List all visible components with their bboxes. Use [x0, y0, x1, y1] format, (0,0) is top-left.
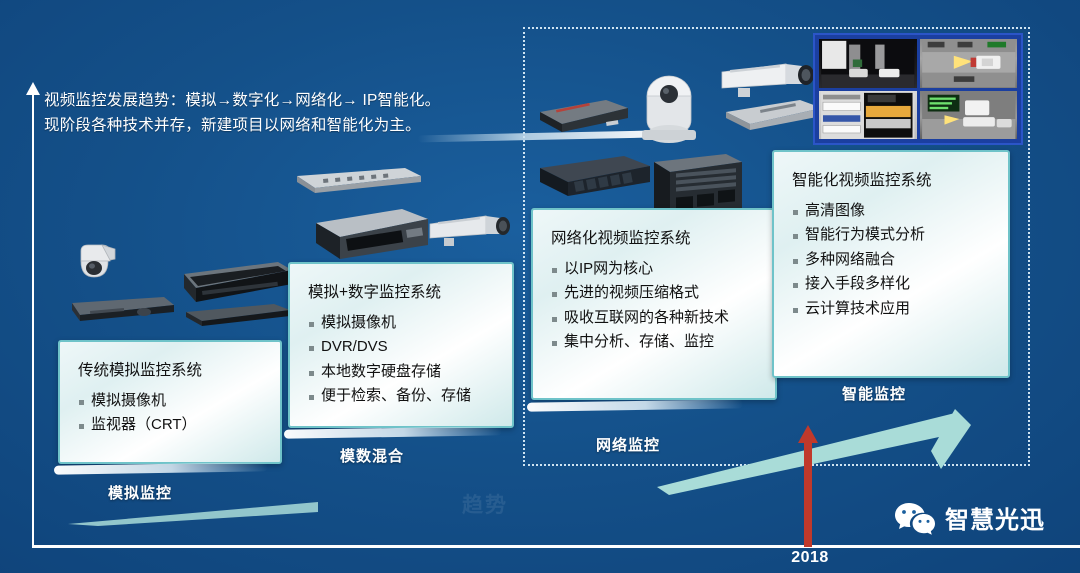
card-intelligent[interactable]: 智能化视频监控系统 高清图像 智能行为模式分析 多种网络融合 接入手段多样化 云…	[772, 150, 1010, 378]
brand-name: 智慧光迅	[945, 500, 1045, 535]
card-analog-swoosh	[54, 462, 268, 474]
card-analog[interactable]: 传统模拟监控系统 模拟摄像机 监视器（CRT）	[58, 340, 282, 464]
list-item: 集中分析、存储、监控	[551, 330, 761, 354]
video-wall	[813, 33, 1023, 145]
video-wall-cell	[819, 91, 917, 140]
bullet-camera-icon	[424, 208, 516, 250]
list-item: 便于检索、备份、存储	[308, 384, 498, 408]
slide-canvas: 视频监控发展趋势：模拟→数字化→网络化→ IP智能化。 现阶段各种技术并存，新建…	[0, 0, 1080, 573]
storage-array-icon	[536, 152, 654, 200]
card-hybrid-title: 模拟+数字监控系统	[308, 280, 498, 302]
media-gateway-icon	[722, 96, 826, 140]
card-network[interactable]: 网络化视频监控系统 以IP网为核心 先进的视频压缩格式 吸收互联网的各种新技术 …	[531, 208, 777, 400]
card-intelligent-bullets: 高清图像 智能行为模式分析 多种网络融合 接入手段多样化 云计算技术应用	[792, 199, 994, 321]
list-item: 吸收互联网的各种新技术	[551, 306, 761, 330]
dvr-deck-icon	[68, 293, 176, 325]
headline-line-1: 视频监控发展趋势：模拟→数字化→网络化→ IP智能化。	[44, 88, 584, 113]
video-wall-cell	[920, 39, 1018, 88]
list-item: 智能行为模式分析	[792, 223, 994, 247]
stage-label-network: 网络监控	[596, 434, 660, 455]
card-hybrid-bullets: 模拟摄像机 DVR/DVS 本地数字硬盘存储 便于检索、备份、存储	[308, 311, 498, 409]
trend-arrow-icon	[655, 395, 995, 495]
watermark-text: 趋势	[462, 489, 508, 519]
card-intelligent-title: 智能化视频监控系统	[792, 168, 994, 190]
dvr-tower-icon	[310, 205, 435, 267]
baseline-wedge-icon	[68, 500, 318, 526]
card-network-bullets: 以IP网为核心 先进的视频压缩格式 吸收互联网的各种新技术 集中分析、存储、监控	[551, 257, 761, 355]
wechat-icon	[893, 501, 937, 535]
stage-label-hybrid: 模数混合	[340, 445, 404, 466]
dvr-rack-icon	[293, 166, 425, 198]
list-item: 本地数字硬盘存储	[308, 360, 498, 384]
dome-camera-icon	[72, 243, 118, 287]
card-hybrid[interactable]: 模拟+数字监控系统 模拟摄像机 DVR/DVS 本地数字硬盘存储 便于检索、备份…	[288, 262, 514, 428]
list-item: 模拟摄像机	[308, 311, 498, 335]
year-marker-arrow-icon	[797, 425, 819, 547]
list-item: 接入手段多样化	[792, 272, 994, 296]
video-wall-cell	[819, 39, 917, 88]
bullet-camera-icon	[716, 56, 820, 100]
list-item: 多种网络融合	[792, 248, 994, 272]
video-encoder-icon	[536, 96, 632, 138]
video-deck-icon	[182, 300, 294, 330]
y-axis	[32, 92, 34, 547]
list-item: 高清图像	[792, 199, 994, 223]
list-item: 先进的视频压缩格式	[551, 281, 761, 305]
list-item: 以IP网为核心	[551, 257, 761, 281]
brand-logo: 智慧光迅	[893, 500, 1045, 535]
card-hybrid-swoosh	[284, 426, 502, 438]
list-item: DVR/DVS	[308, 335, 498, 359]
card-network-title: 网络化视频监控系统	[551, 226, 761, 248]
list-item: 模拟摄像机	[78, 389, 266, 413]
year-tick-label: 2018	[760, 549, 860, 567]
page-title: 视频监控发展趋势：模拟→数字化→网络化→ IP智能化。 现阶段各种技术并存，新建…	[44, 88, 584, 138]
card-analog-bullets: 模拟摄像机 监视器（CRT）	[78, 389, 266, 438]
y-axis-arrowhead-icon	[26, 82, 40, 95]
ptz-dome-camera-icon	[628, 72, 710, 150]
list-item: 监视器（CRT）	[78, 413, 266, 437]
card-analog-title: 传统模拟监控系统	[78, 358, 266, 380]
video-wall-cell	[920, 91, 1018, 140]
x-axis	[32, 545, 1080, 548]
list-item: 云计算技术应用	[792, 297, 994, 321]
